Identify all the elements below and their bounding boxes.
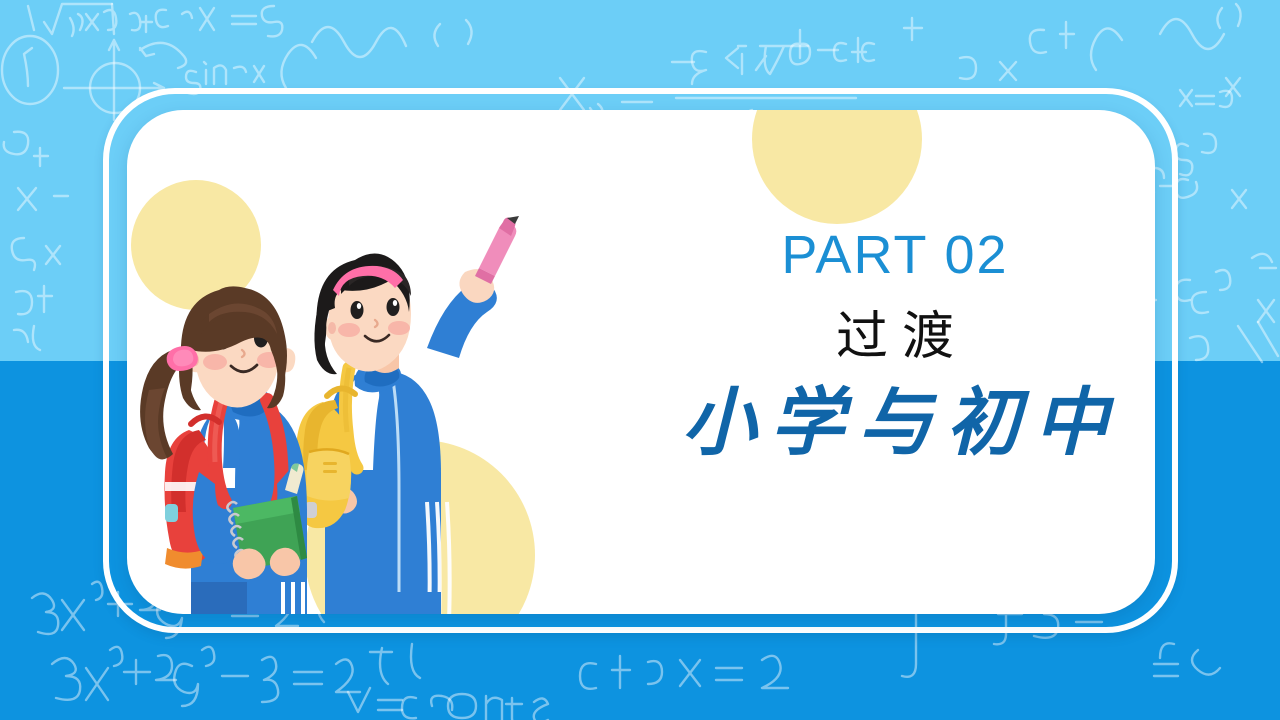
slide-canvas: PART 02 过渡 小学与初中	[0, 0, 1280, 720]
pink-marker-pen	[475, 216, 519, 284]
girl-right-figure	[295, 216, 519, 614]
title-chinese: 小学与初中	[635, 382, 1155, 467]
part-label: PART 02	[635, 228, 1155, 282]
subtitle-chinese: 过渡	[635, 308, 1155, 368]
two-schoolgirls-illustration	[127, 152, 597, 614]
girl-left-figure	[140, 286, 307, 614]
content-card: PART 02 过渡 小学与初中	[127, 110, 1155, 614]
title-text-block: PART 02 过渡 小学与初中	[635, 210, 1155, 590]
yellow-circle-top	[752, 110, 922, 224]
